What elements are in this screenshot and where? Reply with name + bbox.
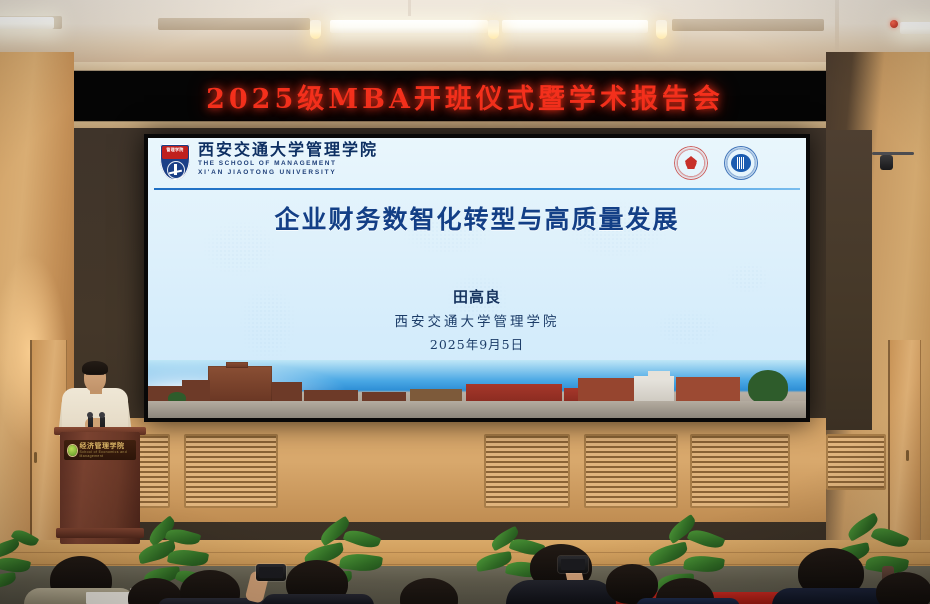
- school-name-block: 西安交通大学管理学院 THE SCHOOL OF MANAGEMENT XI'A…: [198, 141, 378, 177]
- campus-tree-right: [748, 370, 788, 404]
- microphone-2-head: [99, 412, 105, 418]
- ceiling-spotlight-1: [310, 20, 321, 39]
- podium-plaque-text-cn: 经济管理学院: [80, 442, 136, 450]
- right-wall-ventilation-grille: [826, 434, 886, 490]
- shield-emblem-icon: [167, 161, 185, 179]
- podium-plaque-logo-icon: [68, 445, 77, 456]
- microphone-1-head: [87, 412, 93, 418]
- slide-affiliation: 西安交通大学管理学院: [148, 310, 806, 330]
- lecture-hall-photo: 2025级MBA开班仪式暨学术报告会 管理学院 西安交通大学管理学院: [0, 0, 930, 604]
- audience-shoulders-4: [262, 594, 374, 604]
- ventilation-grille-3: [184, 434, 278, 508]
- smartphone[interactable]: [256, 564, 286, 581]
- ventilation-grille-6: [690, 434, 790, 508]
- campus-building-right-wing: [272, 382, 302, 402]
- shield-shape: 管理学院: [160, 144, 190, 180]
- led-banner: 2025级MBA开班仪式暨学术报告会: [0, 71, 930, 121]
- plant-leaf: [871, 523, 910, 551]
- school-name-en-line1: THE SCHOOL OF MANAGEMENT: [198, 159, 378, 168]
- campus-plaza-ground: [148, 401, 806, 418]
- presentation-slide: 管理学院 西安交通大学管理学院 THE SCHOOL OF MANAGEMENT…: [148, 138, 806, 418]
- plant-leaf: [343, 526, 382, 551]
- campus-building-left-wing: [182, 380, 210, 402]
- shield-top-band: 管理学院: [162, 146, 188, 159]
- campus-building-east-block: [578, 378, 634, 402]
- wall-wood-band: [60, 418, 850, 522]
- blue-seal-icon: [724, 146, 758, 180]
- slide-title: 企业财务数智化转型与高质量发展: [148, 200, 806, 236]
- audience-shoulders-6: [506, 580, 616, 604]
- podium-plaque-text-en: School of Economics and Management: [80, 450, 136, 458]
- campus-building-main-tower: [208, 366, 272, 402]
- ceiling-spotlight-2: [488, 20, 499, 39]
- ceiling-panel-light-1: [0, 17, 54, 29]
- audience-shoulders-9: [772, 588, 892, 604]
- campus-building-peak: [648, 371, 670, 380]
- audience-head-10: [876, 572, 930, 604]
- camera-mount-arm: [872, 152, 914, 155]
- plant-leaf: [683, 553, 725, 574]
- podium-base: [56, 528, 144, 538]
- smartphone-2[interactable]: [558, 556, 588, 573]
- school-name-en-line2: XI'AN JIAOTONG UNIVERSITY: [198, 168, 378, 177]
- smoke-alarm-icon: [890, 20, 898, 28]
- led-banner-text: 2025级MBA开班仪式暨学术报告会: [206, 77, 724, 116]
- plant-leaf: [687, 526, 726, 552]
- smartphone-2-screen: [561, 559, 585, 570]
- ceiling-recess-mid-left: [158, 18, 310, 30]
- right-acoustic-panel: [826, 130, 872, 430]
- ceiling-panel-light-4: [900, 22, 930, 34]
- campus-building-tower-crown: [226, 362, 248, 368]
- smartphone-screen: [259, 567, 283, 578]
- speaker-glasses-icon: [86, 374, 104, 380]
- ventilation-grille-5: [584, 434, 678, 508]
- left-door-handle[interactable]: [34, 452, 37, 463]
- ventilation-grille-4: [484, 434, 570, 508]
- podium-plaque: 经济管理学院 School of Economics and Managemen…: [64, 440, 136, 460]
- ceiling-panel-light-2: [330, 20, 488, 33]
- plant-leaf: [0, 572, 17, 589]
- audience-shoulders-8: [636, 598, 740, 604]
- ceiling-recess-mid-right: [672, 19, 824, 31]
- ceiling-camera-icon[interactable]: [880, 155, 893, 170]
- campus-building-right-red: [676, 377, 740, 402]
- slide-author: 田高良: [148, 286, 806, 307]
- campus-building-red-hall: [466, 384, 562, 402]
- red-seal-icon: [674, 146, 708, 180]
- speaker-hair: [82, 361, 108, 375]
- slide-date: 2025年9月5日: [148, 334, 806, 353]
- school-name-cn: 西安交通大学管理学院: [198, 141, 378, 159]
- ceiling: [0, 0, 930, 62]
- xjtu-som-shield-icon: 管理学院: [160, 144, 190, 180]
- ceiling-spotlight-3: [656, 20, 667, 39]
- right-door-handle[interactable]: [906, 450, 909, 461]
- header-divider: [154, 188, 800, 190]
- plant-leaf: [0, 555, 31, 576]
- ceiling-panel-light-3: [502, 20, 648, 33]
- slide-header: 管理学院 西安交通大学管理学院 THE SCHOOL OF MANAGEMENT…: [148, 138, 806, 190]
- ceiling-seam-secondary: [408, 0, 411, 16]
- campus-panorama-photo: [148, 360, 806, 418]
- shield-badge-text: 管理学院: [162, 146, 188, 153]
